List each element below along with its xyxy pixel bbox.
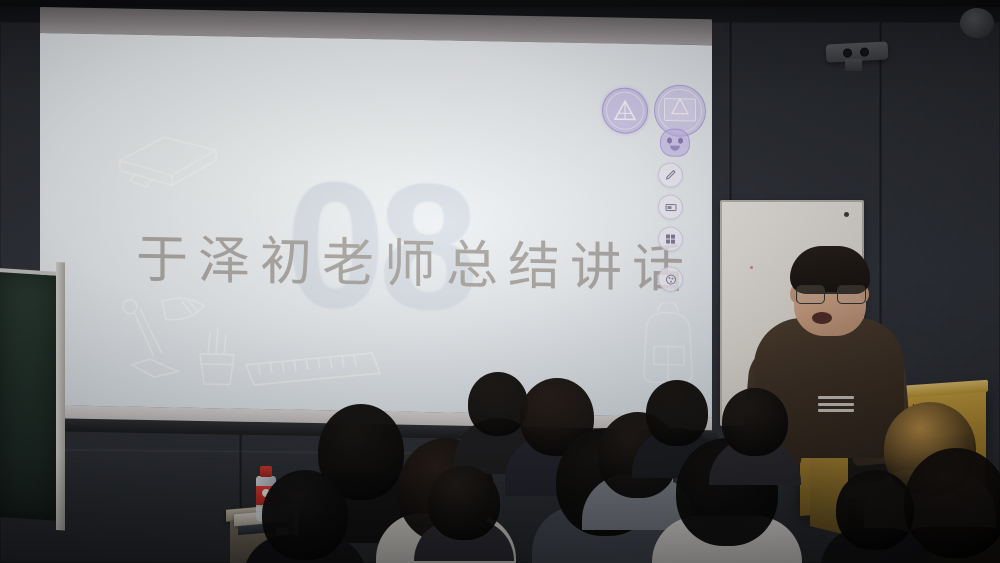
university-seal-logo	[602, 87, 648, 134]
chalkboard-post	[56, 262, 65, 531]
glasses-lens	[796, 285, 825, 304]
ceiling-strip	[0, 0, 1000, 7]
audience-head	[428, 466, 500, 540]
audience-head	[836, 470, 914, 550]
camera-lens-icon	[843, 48, 852, 57]
mascot-robot-icon	[660, 128, 690, 157]
mascot-eye-icon	[667, 137, 672, 143]
presenter-mouth	[812, 312, 832, 324]
annotation-toolbar[interactable]	[658, 162, 683, 291]
glasses-lens	[837, 285, 866, 304]
projection-screen-frame: 08 于泽初老师总结讲话	[40, 7, 712, 439]
ruler-lineart	[244, 349, 384, 392]
pen-icon[interactable]	[658, 162, 683, 187]
lecture-hall-scene: 08 于泽初老师总结讲话	[0, 0, 1000, 563]
audience-head	[468, 372, 528, 436]
audience-head	[262, 470, 348, 560]
triangle-emblem-icon	[613, 99, 637, 121]
camera-lens-icon	[860, 47, 869, 56]
mascot-eye-icon	[678, 138, 683, 144]
slide-title: 于泽初老师总结讲话	[136, 217, 696, 302]
palette-icon[interactable]	[658, 266, 683, 291]
ceiling-speaker	[960, 8, 994, 38]
eraser-icon[interactable]	[658, 194, 683, 219]
bottle-cap	[260, 466, 271, 477]
mascot-mouth-icon	[670, 146, 680, 151]
pen-holder-lineart	[188, 324, 244, 389]
chalkboard	[0, 268, 59, 521]
camera-mount	[845, 59, 862, 71]
grid-icon[interactable]	[658, 226, 683, 251]
triangle-emblem-icon	[670, 98, 690, 116]
sweater-chest-graphic	[818, 396, 854, 412]
projected-slide: 08 于泽初老师总结讲话	[40, 33, 712, 417]
glasses-bridge	[823, 292, 837, 294]
toolbar-divider	[662, 258, 679, 259]
audience-head	[722, 388, 788, 456]
book-lineart	[106, 126, 226, 198]
audience-head	[646, 380, 708, 446]
whiteboard-magnet	[844, 212, 849, 217]
backpack-lineart	[632, 302, 706, 389]
glasses-icon	[796, 285, 864, 302]
